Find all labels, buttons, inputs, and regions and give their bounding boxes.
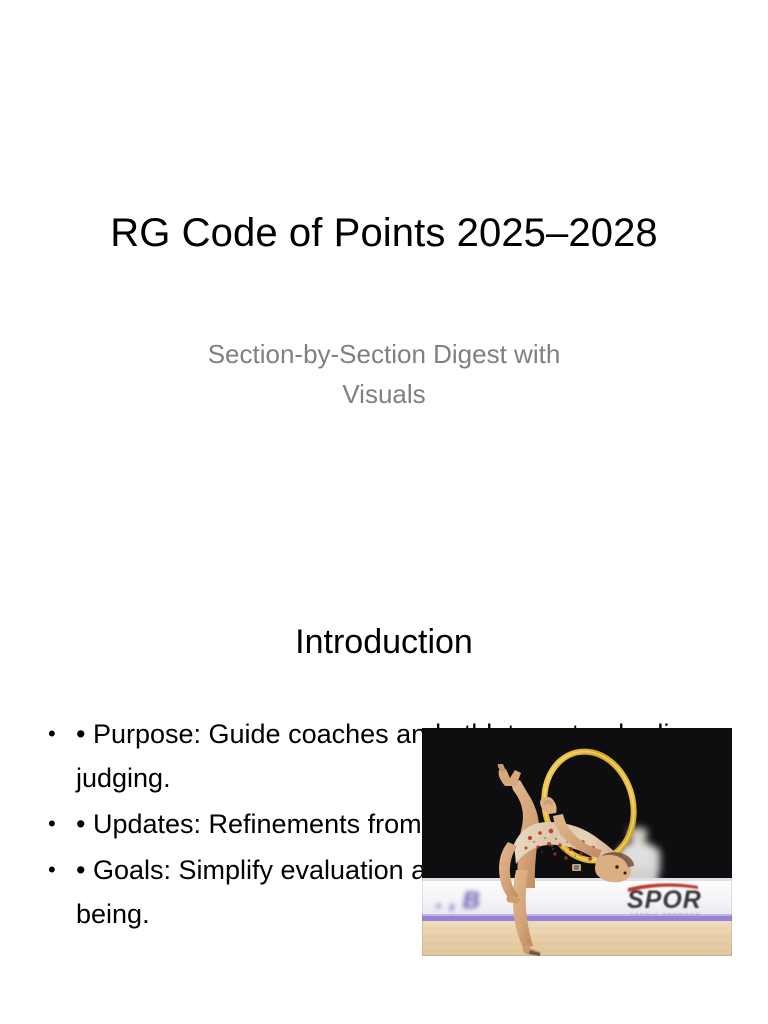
slide-page: RG Code of Points 2025–2028 Section-by-S… — [0, 0, 768, 1024]
gymnast-photo: . , B SPOR TEKNIK SPONSOR — [422, 728, 732, 956]
page-subtitle: Section-by-Section Digest with Visuals — [0, 334, 768, 415]
svg-text:TEKNIK SPONSOR: TEKNIK SPONSOR — [630, 913, 701, 919]
svg-text:SPOR: SPOR — [627, 886, 702, 914]
bullet-marker-icon: • — [48, 712, 56, 756]
bullet-marker-icon: • — [48, 848, 56, 892]
section-heading-introduction: Introduction — [0, 622, 768, 663]
svg-text:. , B: . , B — [436, 887, 480, 914]
title-block: RG Code of Points 2025–2028 Section-by-S… — [0, 210, 768, 415]
page-title: RG Code of Points 2025–2028 — [0, 210, 768, 256]
bullet-marker-icon: • — [48, 802, 56, 846]
subtitle-wrap: Section-by-Section Digest with Visuals — [0, 334, 768, 415]
